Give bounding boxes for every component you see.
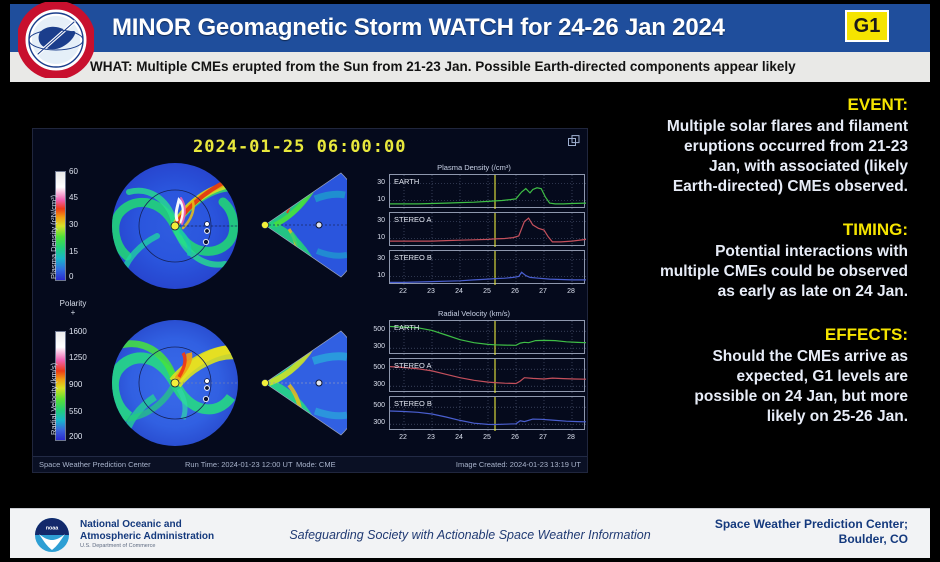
ecliptic-plane-plasma-density-plot bbox=[111, 162, 239, 290]
page-title: MINOR Geomagnetic Storm WATCH for 24-26 … bbox=[112, 10, 812, 46]
polarity-label: Polarity bbox=[43, 299, 103, 308]
colorbar-tick: 45 bbox=[69, 193, 78, 202]
colorbar-tick: 15 bbox=[69, 247, 78, 256]
series-line bbox=[390, 272, 586, 282]
x-axis-tick: 23 bbox=[422, 434, 440, 441]
model-status-bar: Space Weather Prediction Center Run Time… bbox=[33, 456, 587, 472]
x-axis-tick: 27 bbox=[534, 434, 552, 441]
section-body: Potential interactions with multiple CME… bbox=[610, 242, 908, 302]
y-axis-tick: 300 bbox=[363, 381, 385, 388]
colorbar-tick: 0 bbox=[69, 272, 73, 281]
plasma-density-timeseries: Plasma Density (/cm³) EARTH1030STEREO A1… bbox=[363, 163, 585, 303]
section-line: multiple CMEs could be observed bbox=[610, 262, 908, 282]
radial-velocity-timeseries: Radial Velocity (km/s) EARTH300500STEREO… bbox=[363, 309, 585, 449]
agency-line-2: Atmospheric Administration bbox=[80, 531, 214, 543]
national-weather-service-seal-icon: ★ ★ ★ bbox=[18, 2, 94, 78]
footer-tagline: Safeguarding Society with Actionable Spa… bbox=[260, 528, 680, 542]
y-axis-tick: 10 bbox=[363, 272, 385, 279]
noaa-logo-icon: noaa bbox=[34, 517, 70, 553]
x-axis-tick: 28 bbox=[562, 434, 580, 441]
timeseries-panel: EARTH bbox=[389, 174, 585, 208]
section-line: Earth-directed) CMEs observed. bbox=[610, 177, 908, 197]
radial-velocity-chart-title: Radial Velocity (km/s) bbox=[363, 309, 585, 318]
x-axis-tick: 26 bbox=[506, 434, 524, 441]
series-label: STEREO A bbox=[394, 215, 432, 224]
colorbar-tick: 200 bbox=[69, 432, 82, 441]
colorbar-tick: 60 bbox=[69, 167, 78, 176]
space-weather-alert-page: MINOR Geomagnetic Storm WATCH for 24-26 … bbox=[0, 0, 940, 562]
agency-line-1: National Oceanic and bbox=[80, 519, 214, 531]
y-axis-tick: 30 bbox=[363, 179, 385, 186]
y-axis-tick: 300 bbox=[363, 343, 385, 350]
polarity-sign: + bbox=[43, 308, 103, 317]
center-line-2: Boulder, CO bbox=[715, 532, 908, 547]
section-line: Potential interactions with bbox=[610, 242, 908, 262]
y-axis-tick: 300 bbox=[363, 419, 385, 426]
x-axis-tick: 28 bbox=[562, 288, 580, 295]
y-axis-tick: 30 bbox=[363, 217, 385, 224]
model-timestamp: 2024-01-25 06:00:00 bbox=[193, 137, 406, 157]
page-footer: noaa National Oceanic and Atmospheric Ad… bbox=[10, 508, 930, 558]
series-label: STEREO B bbox=[394, 253, 432, 262]
meridional-plane-plasma-density-plot bbox=[255, 169, 347, 281]
section-heading: TIMING: bbox=[610, 219, 908, 240]
colorbar-tick: 550 bbox=[69, 407, 82, 416]
x-axis-tick: 22 bbox=[394, 434, 412, 441]
y-axis-tick: 500 bbox=[363, 364, 385, 371]
x-axis-tick: 24 bbox=[450, 288, 468, 295]
plasma-density-chart-title: Plasma Density (/cm³) bbox=[363, 163, 585, 172]
section-line: Should the CMEs arrive as bbox=[610, 347, 908, 367]
section-line: possible on 24 Jan, but more bbox=[610, 387, 908, 407]
x-axis-tick: 23 bbox=[422, 288, 440, 295]
timeseries-panel: STEREO B bbox=[389, 250, 585, 284]
section-line: as early as late on 24 Jan. bbox=[610, 282, 908, 302]
section-line: Jan, with associated (likely bbox=[610, 157, 908, 177]
timeseries-panel: EARTH bbox=[389, 320, 585, 354]
section-heading: EVENT: bbox=[610, 94, 908, 115]
model-run-time: Run Time: 2024-01-23 12:00 UT bbox=[185, 457, 293, 472]
series-label: STEREO A bbox=[394, 361, 432, 370]
alert-section-event: EVENT: Multiple solar flares and filamen… bbox=[610, 94, 908, 197]
svg-text:noaa: noaa bbox=[46, 526, 60, 532]
section-line: Multiple solar flares and filament bbox=[610, 117, 908, 137]
series-label: EARTH bbox=[394, 323, 419, 332]
y-axis-tick: 30 bbox=[363, 255, 385, 262]
alert-section-effects: EFFECTS: Should the CMEs arrive as expec… bbox=[610, 324, 908, 427]
section-line: eruptions occurred from 21-23 bbox=[610, 137, 908, 157]
section-line: likely on 25-26 Jan. bbox=[610, 407, 908, 427]
plasma-density-colorbar-label: Plasma Density (r²N/cm³) bbox=[49, 195, 58, 279]
alert-section-timing: TIMING: Potential interactions with mult… bbox=[610, 219, 908, 302]
timeseries-panel: STEREO A bbox=[389, 212, 585, 246]
series-label: EARTH bbox=[394, 177, 419, 186]
colorbar-tick: 900 bbox=[69, 380, 82, 389]
model-image-created: Image Created: 2024-01-23 13:19 UT bbox=[456, 457, 581, 472]
x-axis-tick: 22 bbox=[394, 288, 412, 295]
department-label: U.S. Department of Commerce bbox=[80, 543, 156, 549]
alert-text-panel: EVENT: Multiple solar flares and filamen… bbox=[610, 94, 908, 449]
y-axis-tick: 500 bbox=[363, 326, 385, 333]
colorbar-tick: 30 bbox=[69, 220, 78, 229]
section-body: Multiple solar flares and filament erupt… bbox=[610, 117, 908, 197]
what-text: WHAT: Multiple CMEs erupted from the Sun… bbox=[90, 57, 920, 77]
main-content: 2024-01-25 06:00:00 Plasma Density (r²N/… bbox=[10, 84, 930, 504]
x-axis-tick: 26 bbox=[506, 288, 524, 295]
ecliptic-plane-radial-velocity-plot bbox=[111, 319, 239, 447]
plasma-density-colorbar: Plasma Density (r²N/cm³) 60 45 30 15 0 bbox=[55, 171, 111, 281]
timeseries-panel: STEREO A bbox=[389, 358, 585, 392]
series-line bbox=[390, 411, 586, 425]
radial-velocity-colorbar: Radial Velocity (km/s) 1600 1250 900 550… bbox=[55, 331, 111, 441]
y-axis-tick: 500 bbox=[363, 402, 385, 409]
x-axis-tick: 24 bbox=[450, 434, 468, 441]
model-center-name: Space Weather Prediction Center bbox=[39, 457, 151, 472]
colorbar-tick: 1250 bbox=[69, 353, 87, 362]
footer-center-name: Space Weather Prediction Center; Boulder… bbox=[715, 517, 908, 547]
noaa-agency-name: National Oceanic and Atmospheric Adminis… bbox=[80, 519, 214, 542]
meridional-plane-radial-velocity-plot bbox=[255, 327, 347, 439]
external-link-icon[interactable] bbox=[568, 135, 580, 147]
section-body: Should the CMEs arrive as expected, G1 l… bbox=[610, 347, 908, 427]
x-axis-tick: 25 bbox=[478, 288, 496, 295]
colorbar-tick: 1600 bbox=[69, 327, 87, 336]
status-badge-g1: G1 bbox=[845, 10, 889, 42]
center-line-1: Space Weather Prediction Center; bbox=[715, 517, 908, 532]
x-axis-tick: 25 bbox=[478, 434, 496, 441]
wsa-enlil-model-image[interactable]: 2024-01-25 06:00:00 Plasma Density (r²N/… bbox=[32, 128, 588, 473]
svg-text:★ ★ ★: ★ ★ ★ bbox=[46, 74, 65, 78]
series-label: STEREO B bbox=[394, 399, 432, 408]
model-mode: Mode: CME bbox=[296, 457, 336, 472]
radial-velocity-colorbar-label: Radial Velocity (km/s) bbox=[49, 363, 58, 435]
x-axis-tick: 27 bbox=[534, 288, 552, 295]
y-axis-tick: 10 bbox=[363, 196, 385, 203]
section-line: expected, G1 levels are bbox=[610, 367, 908, 387]
timeseries-panel: STEREO B bbox=[389, 396, 585, 430]
y-axis-tick: 10 bbox=[363, 234, 385, 241]
section-heading: EFFECTS: bbox=[610, 324, 908, 345]
